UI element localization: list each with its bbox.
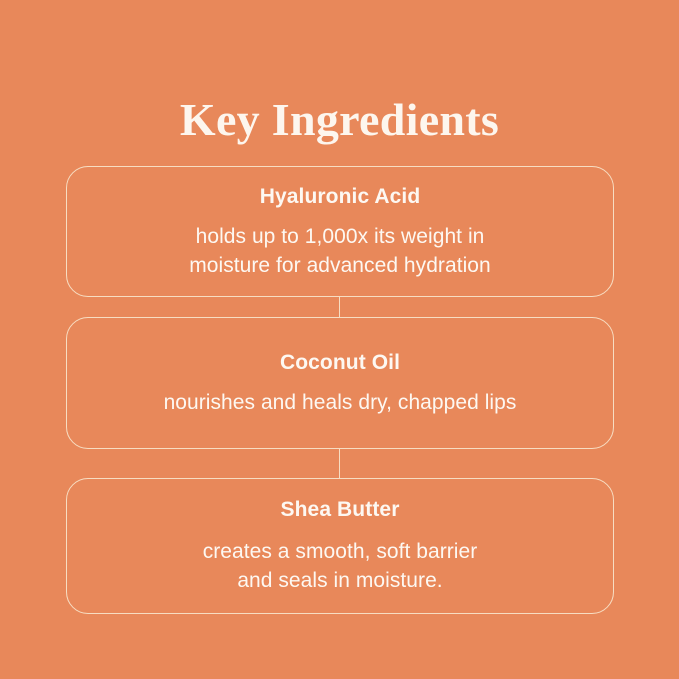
ingredient-title: Coconut Oil <box>280 350 400 376</box>
ingredient-description: holds up to 1,000x its weight in moistur… <box>189 222 491 280</box>
ingredient-title: Hyaluronic Acid <box>260 184 421 210</box>
ingredient-title: Shea Butter <box>281 497 400 523</box>
connector-line-2 <box>339 449 340 478</box>
page-title: Key Ingredients <box>0 91 679 149</box>
ingredient-description: creates a smooth, soft barrier and seals… <box>203 537 478 595</box>
connector-line-1 <box>339 297 340 317</box>
key-ingredients-poster: Key Ingredients Hyaluronic Acid holds up… <box>0 0 679 679</box>
ingredient-card-hyaluronic-acid: Hyaluronic Acid holds up to 1,000x its w… <box>66 166 614 297</box>
ingredient-card-coconut-oil: Coconut Oil nourishes and heals dry, cha… <box>66 317 614 449</box>
ingredient-description: nourishes and heals dry, chapped lips <box>164 388 517 417</box>
ingredient-card-shea-butter: Shea Butter creates a smooth, soft barri… <box>66 478 614 614</box>
